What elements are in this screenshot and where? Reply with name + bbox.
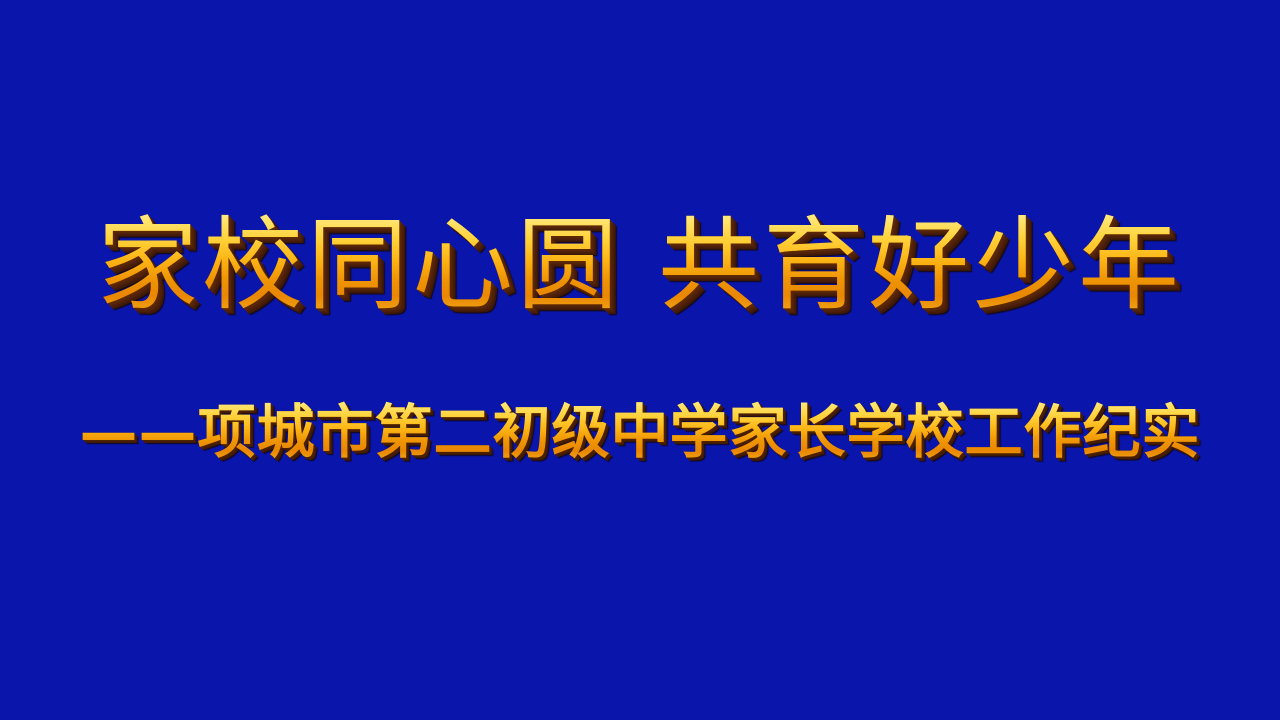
- presentation-slide: 家校同心圆 共育好少年 家校同心圆 共育好少年 ——项城市第二初级中学家长学校工…: [0, 0, 1280, 720]
- slide-subtitle-text: ——项城市第二初级中学家长学校工作纪实: [0, 396, 1280, 468]
- slide-subtitle: ——项城市第二初级中学家长学校工作纪实 ——项城市第二初级中学家长学校工作纪实: [0, 396, 1280, 474]
- slide-title: 家校同心圆 共育好少年 家校同心圆 共育好少年: [0, 206, 1280, 330]
- slide-title-text: 家校同心圆 共育好少年: [0, 206, 1280, 324]
